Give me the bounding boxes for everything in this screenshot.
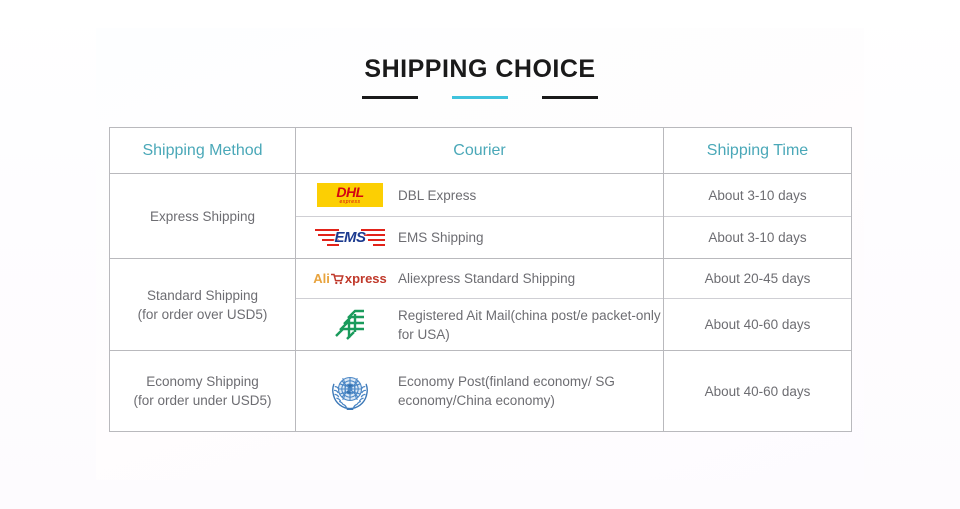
courier-row: DHL express DBL Express: [296, 174, 663, 216]
cell-time-list: About 3-10 days About 3-10 days: [664, 174, 851, 258]
title-underline-group: [0, 96, 960, 99]
dhl-logo-text: DHL: [336, 185, 363, 199]
table-header-row: Shipping Method Courier Shipping Time: [110, 128, 851, 173]
shipping-time-label: About 3-10 days: [664, 216, 851, 258]
method-label: Standard Shipping (for order over USD5): [138, 286, 268, 324]
shopping-cart-icon: [331, 273, 344, 285]
table-row: Express Shipping DHL express DBL Express: [110, 173, 851, 258]
page-background: SHIPPING CHOICE Shipping Method Courier …: [0, 0, 960, 509]
method-label-line2: (for order over USD5): [138, 305, 268, 324]
header-cell-courier: Courier: [296, 128, 664, 173]
title-rule-right: [542, 96, 598, 99]
cell-shipping-method: Express Shipping: [110, 174, 296, 258]
header-label-courier: Courier: [453, 142, 505, 160]
cell-courier-list: DHL express DBL Express: [296, 174, 664, 258]
method-label-line1: Standard Shipping: [138, 286, 268, 305]
header-label-time: Shipping Time: [707, 142, 808, 160]
china-post-logo-mark: [330, 306, 370, 344]
dhl-logo: DHL express: [310, 183, 390, 207]
courier-row: EMS EMS Shipping: [296, 216, 663, 258]
title-rule-center-accent: [452, 96, 508, 99]
shipping-time-label: About 40-60 days: [664, 351, 851, 431]
cell-time-list: About 40-60 days: [664, 351, 851, 431]
shipping-time-label: About 3-10 days: [664, 174, 851, 216]
courier-row: Ali xpress Aliexpress Standard: [296, 259, 663, 298]
aliexpress-logo-text-xpress: xpress: [345, 271, 387, 286]
page-title: SHIPPING CHOICE: [364, 55, 595, 83]
courier-label: EMS Shipping: [390, 228, 484, 247]
method-label-line1: Express Shipping: [150, 209, 255, 224]
header-cell-method: Shipping Method: [110, 128, 296, 173]
china-post-logo: [310, 306, 390, 344]
courier-label: Registered Ait Mail(china post/e packet-…: [390, 306, 663, 344]
shipping-time-label: About 20-45 days: [664, 259, 851, 298]
header-cell-time: Shipping Time: [664, 128, 851, 173]
courier-row: Economy Post(finland economy/ SG economy…: [296, 351, 663, 431]
aliexpress-logo-mark: Ali xpress: [313, 271, 387, 286]
table-row: Standard Shipping (for order over USD5) …: [110, 258, 851, 350]
cell-shipping-method: Economy Shipping (for order under USD5): [110, 351, 296, 431]
method-label-line1: Economy Shipping: [133, 372, 271, 391]
united-nations-logo: [310, 370, 390, 412]
cell-time-list: About 20-45 days About 40-60 days: [664, 259, 851, 350]
method-label: Express Shipping: [150, 207, 255, 226]
aliexpress-logo-text-ali: Ali: [313, 271, 330, 286]
dhl-logo-subtext: express: [339, 200, 360, 205]
ems-logo: EMS: [310, 225, 390, 251]
aliexpress-logo: Ali xpress: [310, 271, 390, 286]
ems-logo-mark: EMS: [315, 225, 385, 251]
united-nations-logo-mark: [328, 370, 372, 412]
table-row: Economy Shipping (for order under USD5): [110, 350, 851, 431]
shipping-table: Shipping Method Courier Shipping Time Ex…: [109, 127, 852, 432]
cell-courier-list: Ali xpress Aliexpress Standard: [296, 259, 664, 350]
cell-shipping-method: Standard Shipping (for order over USD5): [110, 259, 296, 350]
courier-row: Registered Ait Mail(china post/e packet-…: [296, 298, 663, 350]
ems-logo-text: EMS: [334, 229, 365, 246]
courier-label: DBL Express: [390, 186, 476, 205]
courier-label: Economy Post(finland economy/ SG economy…: [390, 372, 663, 410]
dhl-logo-mark: DHL express: [317, 183, 383, 207]
cell-courier-list: Economy Post(finland economy/ SG economy…: [296, 351, 664, 431]
method-label: Economy Shipping (for order under USD5): [133, 372, 271, 410]
page-title-wrap: SHIPPING CHOICE: [0, 55, 960, 84]
method-label-line2: (for order under USD5): [133, 391, 271, 410]
header-label-method: Shipping Method: [142, 142, 262, 160]
title-rule-left: [362, 96, 418, 99]
shipping-time-label: About 40-60 days: [664, 298, 851, 350]
courier-label: Aliexpress Standard Shipping: [390, 269, 575, 288]
